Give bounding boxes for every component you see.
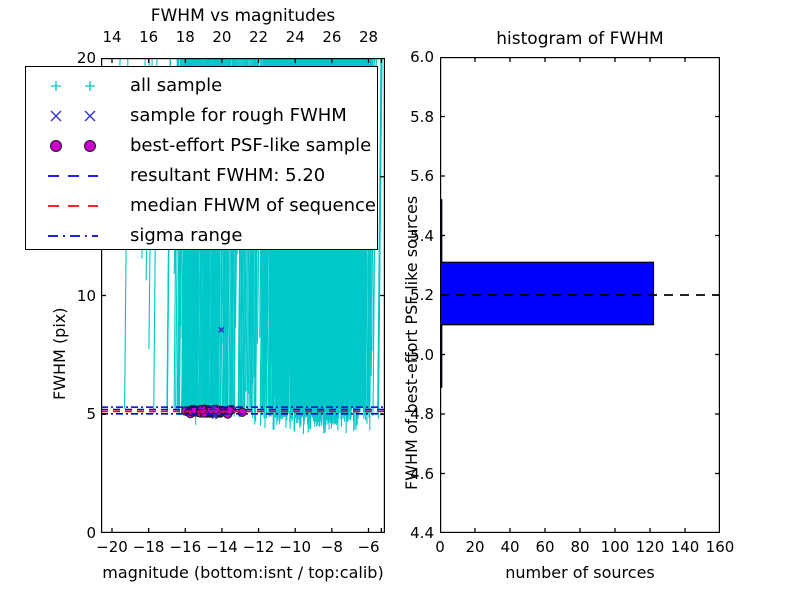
legend-entry[interactable]: all sample (34, 71, 377, 101)
right-x-tick: 120 (631, 538, 669, 556)
left-bottom-tick: −12 (240, 538, 278, 556)
legend-dashdot-line-icon (34, 221, 130, 251)
right-y-tick: 5.8 (396, 108, 434, 126)
legend-entry-label: sample for rough FWHM (130, 107, 347, 125)
left-top-tick: 28 (355, 28, 383, 46)
left-bottom-tick: −20 (93, 538, 131, 556)
legend-entry[interactable]: resultant FWHM: 5.20 (34, 161, 377, 191)
legend-entry-label: sigma range (130, 227, 242, 245)
left-top-tick: 20 (208, 28, 236, 46)
legend-dashed-line-icon (34, 191, 130, 221)
left-bottom-tick: −10 (276, 538, 314, 556)
left-top-tick: 26 (318, 28, 346, 46)
legend-entry-label: all sample (130, 77, 222, 95)
left-bottom-tick: −14 (203, 538, 241, 556)
left-y-tick: 5 (66, 405, 96, 423)
legend-cross-icon (34, 101, 130, 131)
legend-entry[interactable]: sigma range (34, 221, 377, 251)
right-y-tick: 6.0 (396, 48, 434, 66)
left-bottom-tick: −18 (130, 538, 168, 556)
legend-entry[interactable]: median FHWM of sequence (34, 191, 377, 221)
left-y-tick: 0 (66, 524, 96, 542)
right-x-tick: 80 (561, 538, 599, 556)
left-y-tick: 20 (66, 49, 96, 67)
right-xlabel: number of sources (440, 563, 720, 582)
left-y-tick: 10 (66, 287, 96, 305)
right-x-tick: 100 (596, 538, 634, 556)
legend-circle-icon (34, 131, 130, 161)
legend-entry-label: resultant FWHM: 5.20 (130, 167, 325, 185)
right-y-tick: 5.6 (396, 167, 434, 185)
left-top-tick: 22 (245, 28, 273, 46)
left-bottom-tick: −6 (350, 538, 388, 556)
right-panel-title: histogram of FWHM (440, 29, 720, 49)
left-top-tick: 18 (171, 28, 199, 46)
left-top-tick: 14 (98, 28, 126, 46)
right-histogram-plot[interactable] (440, 57, 720, 533)
right-ylabel: FWHM of best-effort PSF-like sources (402, 196, 421, 490)
right-x-tick: 140 (666, 538, 704, 556)
matplotlib-figure: FWHM vs magnitudes 1416182022242628 −20−… (0, 0, 800, 600)
legend-entry[interactable]: best-effort PSF-like sample (34, 131, 377, 161)
legend-entry-label: best-effort PSF-like sample (130, 137, 371, 155)
left-top-tick: 16 (135, 28, 163, 46)
right-x-tick: 60 (526, 538, 564, 556)
left-bottom-tick: −16 (166, 538, 204, 556)
left-bottom-tick: −8 (313, 538, 351, 556)
right-x-tick: 40 (491, 538, 529, 556)
right-x-tick: 160 (701, 538, 739, 556)
legend-entry[interactable]: sample for rough FWHM (34, 101, 377, 131)
left-ylabel: FWHM (pix) (50, 308, 69, 401)
left-top-tick: 24 (281, 28, 309, 46)
legend-dashed-line-icon (34, 161, 130, 191)
right-x-tick: 20 (456, 538, 494, 556)
right-y-tick: 4.4 (396, 524, 434, 542)
left-xlabel: magnitude (bottom:isnt / top:calib) (101, 563, 385, 582)
legend: all samplesample for rough FWHMbest-effo… (25, 66, 378, 250)
left-panel-title: FWHM vs magnitudes (101, 6, 385, 26)
legend-entry-label: median FHWM of sequence (130, 197, 376, 215)
legend-plus-icon (34, 71, 130, 101)
